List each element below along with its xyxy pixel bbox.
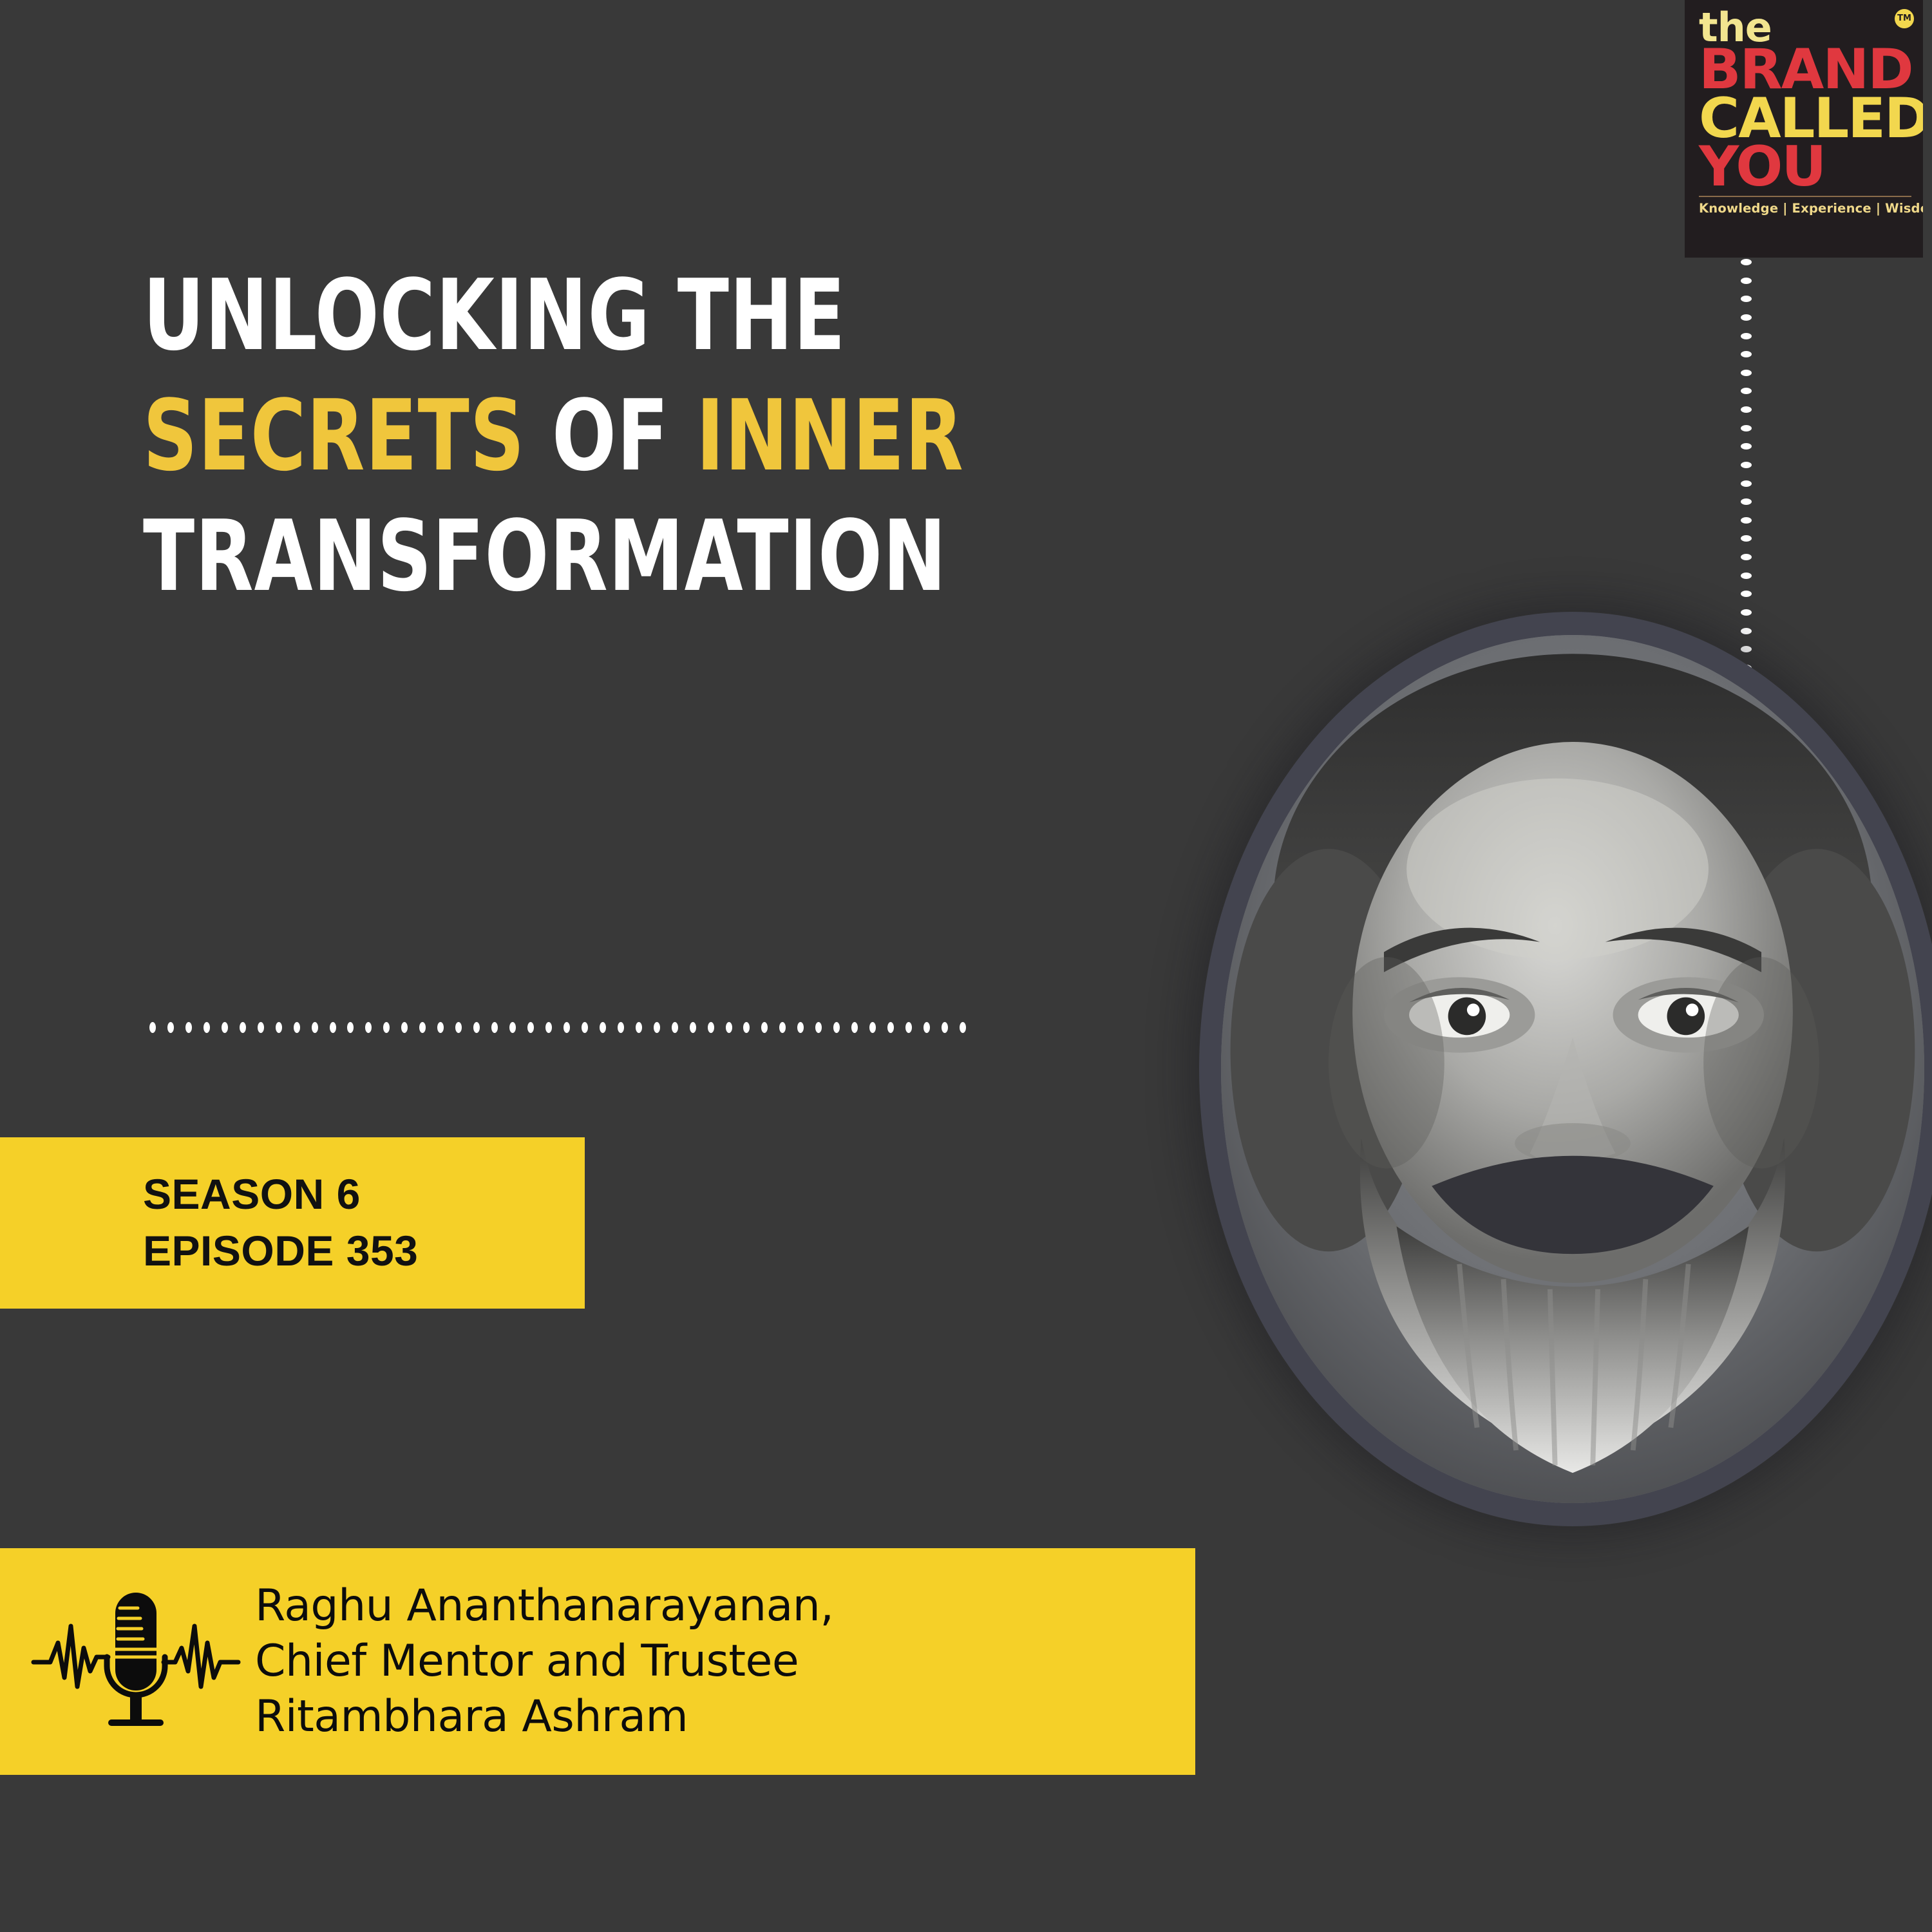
guest-portrait-photo	[1221, 635, 1924, 1503]
title-line-2: SECRETS OF INNER	[143, 390, 1195, 482]
guest-name: Raghu Ananthanarayanan,	[255, 1578, 834, 1634]
brand-logo[interactable]: the BRAND CALLED YOU Knowledge | Experie…	[1685, 0, 1923, 258]
episode-title: UNLOCKING THE SECRETS OF INNER TRANSFORM…	[143, 269, 1367, 602]
guest-organization: Ritambhara Ashram	[255, 1689, 834, 1745]
vertical-dotted-connector	[1740, 259, 1752, 671]
logo-tagline: Knowledge | Experience | Wisdom	[1699, 201, 1911, 216]
podcast-cover-canvas: the BRAND CALLED YOU Knowledge | Experie…	[0, 0, 1932, 1932]
guest-portrait-frame	[1199, 612, 1932, 1526]
trademark-icon: TM	[1895, 9, 1914, 28]
title-line-1: UNLOCKING THE	[143, 269, 1195, 361]
guest-text-block: Raghu Ananthanarayanan, Chief Mentor and…	[255, 1578, 834, 1745]
episode-label: EPISODE 353	[143, 1222, 585, 1279]
logo-you-text: YOU	[1699, 143, 1911, 192]
title-highlight-inner: INNER	[696, 379, 964, 493]
title-connector-of: OF	[525, 379, 696, 493]
season-label: SEASON 6	[143, 1166, 585, 1222]
season-episode-badge: SEASON 6 EPISODE 353	[0, 1137, 585, 1309]
title-highlight-secrets: SECRETS	[143, 379, 525, 493]
guest-role: Chief Mentor and Trustee	[255, 1634, 834, 1689]
guest-info-banner: Raghu Ananthanarayanan, Chief Mentor and…	[0, 1548, 1195, 1775]
microphone-waveform-icon	[30, 1581, 242, 1742]
dotted-divider	[149, 1023, 966, 1032]
title-line-3: TRANSFORMATION	[143, 510, 1195, 602]
